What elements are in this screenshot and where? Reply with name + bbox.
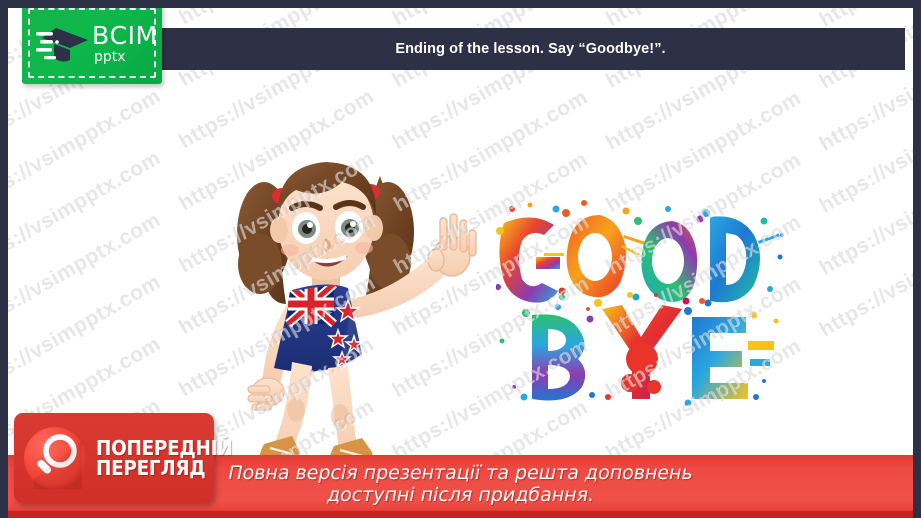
magnifier-icon <box>24 427 86 489</box>
goodbye-splash-art <box>496 191 786 406</box>
purchase-banner-line-1: Повна версія презентації та решта доповн… <box>228 462 692 484</box>
frame-left <box>0 0 8 518</box>
logo-name: ВСІМ <box>92 23 158 48</box>
page-title: Ending of the lesson. Say “Goodbye!”. <box>395 41 665 57</box>
graduation-cap-icon <box>36 18 90 68</box>
frame-right <box>913 0 921 518</box>
header-banner: Ending of the lesson. Say “Goodbye!”. <box>156 28 905 70</box>
girl-illustration <box>230 104 510 474</box>
preview-badge[interactable]: ПОПЕРЕДНІЙ ПЕРЕГЛЯД <box>14 413 214 503</box>
slide-root: https://vsimpptx.com https://vsimpptx.co… <box>0 0 921 518</box>
preview-badge-line-2: ПЕРЕГЛЯД <box>96 458 232 478</box>
logo-suffix: pptx <box>94 50 126 64</box>
purchase-banner-line-2: доступні після придбання. <box>327 484 594 506</box>
logo-badge[interactable]: ВСІМ pptx <box>22 2 162 84</box>
preview-badge-line-1: ПОПЕРЕДНІЙ <box>96 438 232 458</box>
